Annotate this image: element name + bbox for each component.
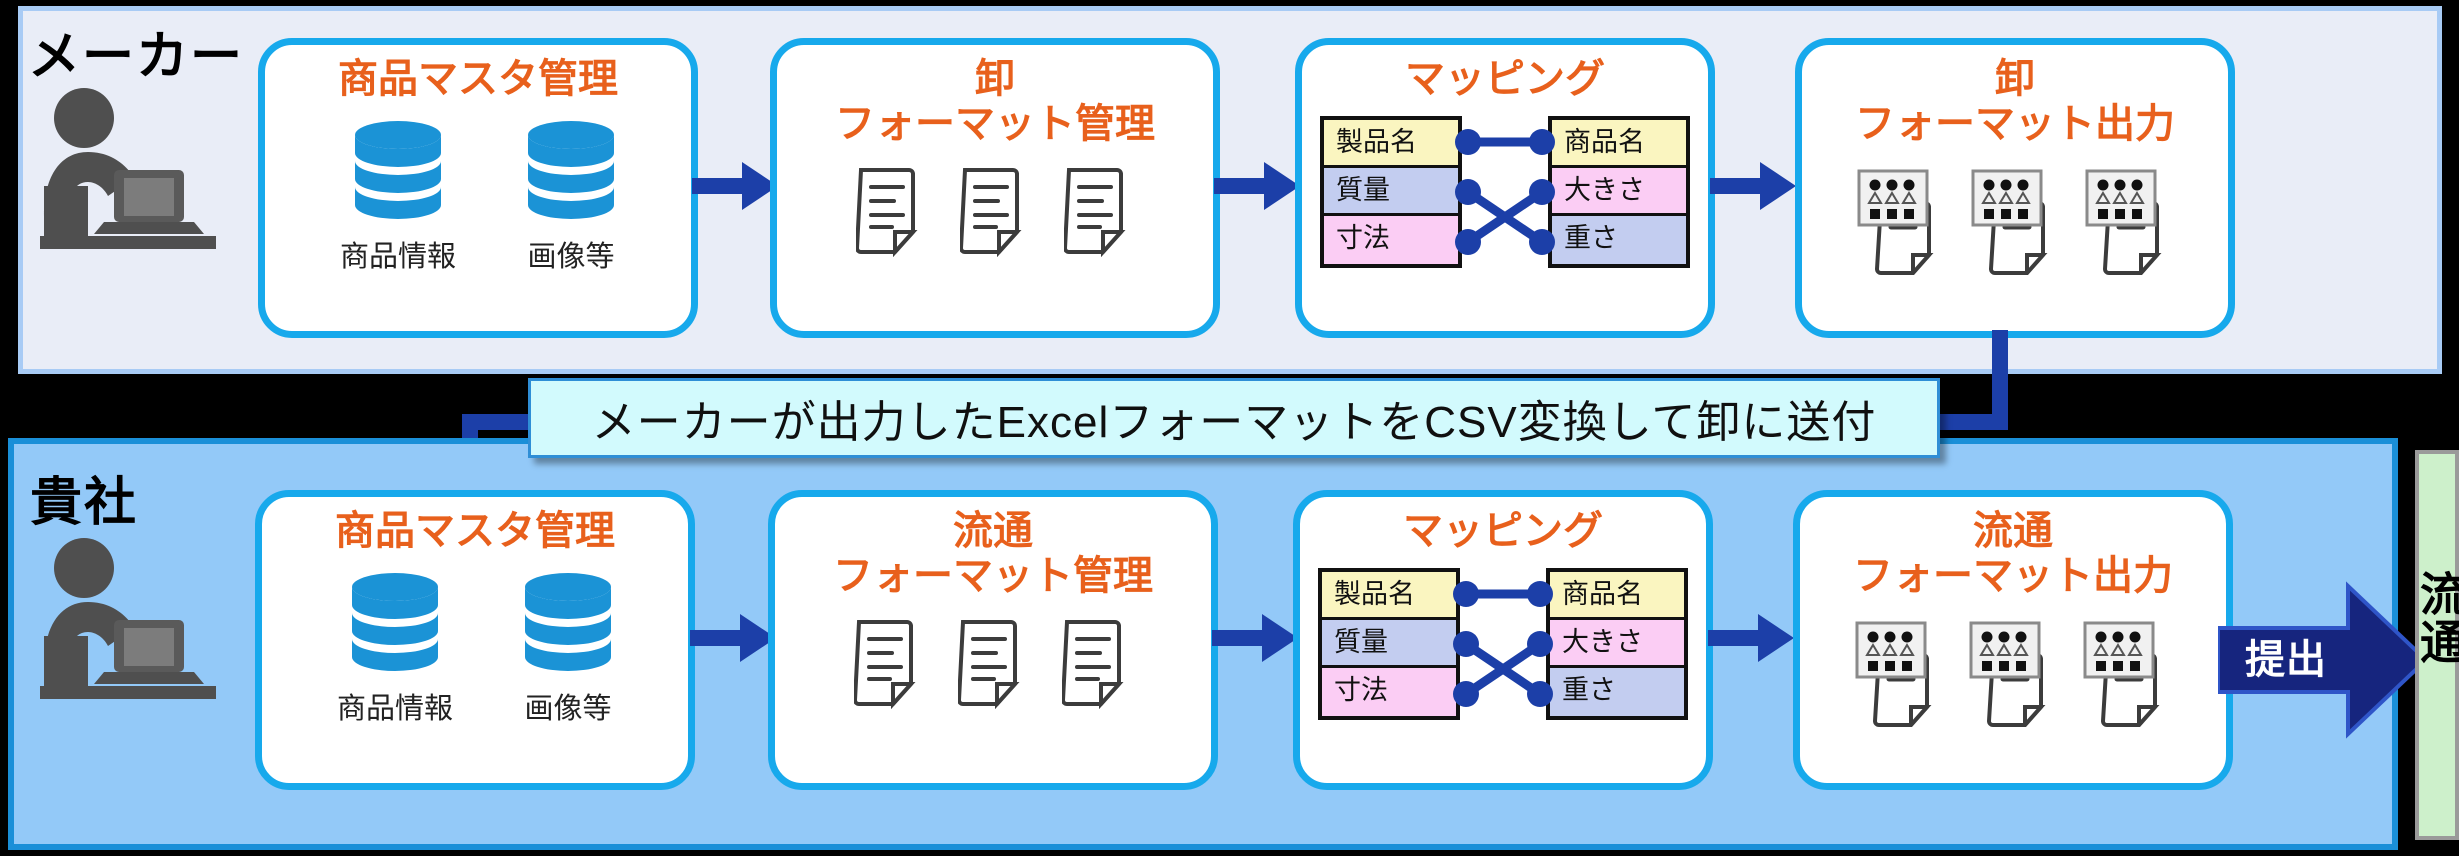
document-icon — [854, 617, 924, 709]
database-caption: 商品情報 — [337, 685, 453, 727]
callout-banner: メーカーが出力したExcelフォーマットをCSV変換して卸に送付 — [528, 378, 1940, 458]
database-item: 画像等 — [523, 572, 613, 727]
database-icon — [526, 120, 616, 224]
card-title: 卸 フォーマット出力 — [1802, 45, 2228, 147]
card-maker-format-output[interactable]: 卸 フォーマット出力 — [1795, 38, 2235, 338]
document-group — [777, 165, 1213, 257]
database-caption: 画像等 — [523, 685, 613, 727]
card-title: 卸 フォーマット管理 — [777, 45, 1213, 147]
database-icon — [353, 120, 443, 224]
card-maker-mapping[interactable]: マッピング 製品名 質量 寸法 商品名 大きさ 重さ — [1295, 38, 1715, 338]
card-title: マッピング — [1300, 497, 1706, 554]
card-title: 流通 フォーマット管理 — [775, 497, 1211, 599]
spreadsheet-document-icon — [2081, 167, 2177, 275]
document-group — [775, 617, 1211, 709]
card-yours-format-management[interactable]: 流通 フォーマット管理 — [768, 490, 1218, 790]
flow-arrow-right — [692, 160, 778, 212]
card-yours-format-output[interactable]: 流通 フォーマット出力 — [1793, 490, 2233, 790]
document-icon — [1064, 165, 1134, 257]
output-document-group — [1802, 167, 2228, 275]
database-caption: 商品情報 — [340, 233, 456, 275]
maker-panel-label: メーカー — [28, 14, 244, 89]
document-icon — [958, 617, 1028, 709]
person-at-laptop-icon — [22, 536, 232, 701]
database-group: 商品情報 画像等 — [265, 120, 691, 275]
card-title: 商品マスタ管理 — [262, 497, 688, 554]
diagram-canvas: メーカー 商品マスタ管理 商品情報 — [0, 0, 2459, 856]
spreadsheet-document-icon — [2079, 619, 2175, 727]
yours-panel-label: 貴社 — [30, 460, 138, 535]
database-caption: 画像等 — [526, 233, 616, 275]
document-icon — [960, 165, 1030, 257]
database-item: 画像等 — [526, 120, 616, 275]
spreadsheet-document-icon — [1853, 167, 1949, 275]
spreadsheet-document-icon — [1967, 167, 2063, 275]
output-document-group — [1800, 619, 2226, 727]
card-title: マッピング — [1302, 45, 1708, 102]
ryutsu-panel-label: 流通 — [2419, 570, 2459, 666]
flow-arrow-right — [1710, 160, 1796, 212]
card-maker-format-management[interactable]: 卸 フォーマット管理 — [770, 38, 1220, 338]
database-item: 商品情報 — [337, 572, 453, 727]
database-item: 商品情報 — [340, 120, 456, 275]
flow-arrow-right — [1708, 612, 1794, 664]
mapping-link-lines — [1318, 568, 1688, 720]
database-icon — [350, 572, 440, 676]
flow-arrow-right — [690, 612, 776, 664]
spreadsheet-document-icon — [1851, 619, 1947, 727]
database-icon — [523, 572, 613, 676]
person-at-laptop-icon — [22, 86, 232, 251]
card-yours-product-master[interactable]: 商品マスタ管理 商品情報 画像等 — [255, 490, 695, 790]
card-title: 流通 フォーマット出力 — [1800, 497, 2226, 599]
mapping-table: 製品名 質量 寸法 商品名 大きさ 重さ — [1318, 568, 1688, 720]
spreadsheet-document-icon — [1965, 619, 2061, 727]
database-group: 商品情報 画像等 — [262, 572, 688, 727]
document-icon — [856, 165, 926, 257]
card-maker-product-master[interactable]: 商品マスタ管理 商品情報 画像等 — [258, 38, 698, 338]
document-icon — [1062, 617, 1132, 709]
submit-arrow-label: 提出 — [2245, 627, 2327, 685]
mapping-table: 製品名 質量 寸法 商品名 大きさ 重さ — [1320, 116, 1690, 268]
callout-text: メーカーが出力したExcelフォーマットをCSV変換して卸に送付 — [592, 386, 1877, 450]
card-yours-mapping[interactable]: マッピング 製品名 質量 寸法 商品名 大きさ 重さ — [1293, 490, 1713, 790]
mapping-link-lines — [1320, 116, 1690, 268]
card-title: 商品マスタ管理 — [265, 45, 691, 102]
flow-arrow-right — [1214, 160, 1300, 212]
flow-arrow-right — [1212, 612, 1298, 664]
